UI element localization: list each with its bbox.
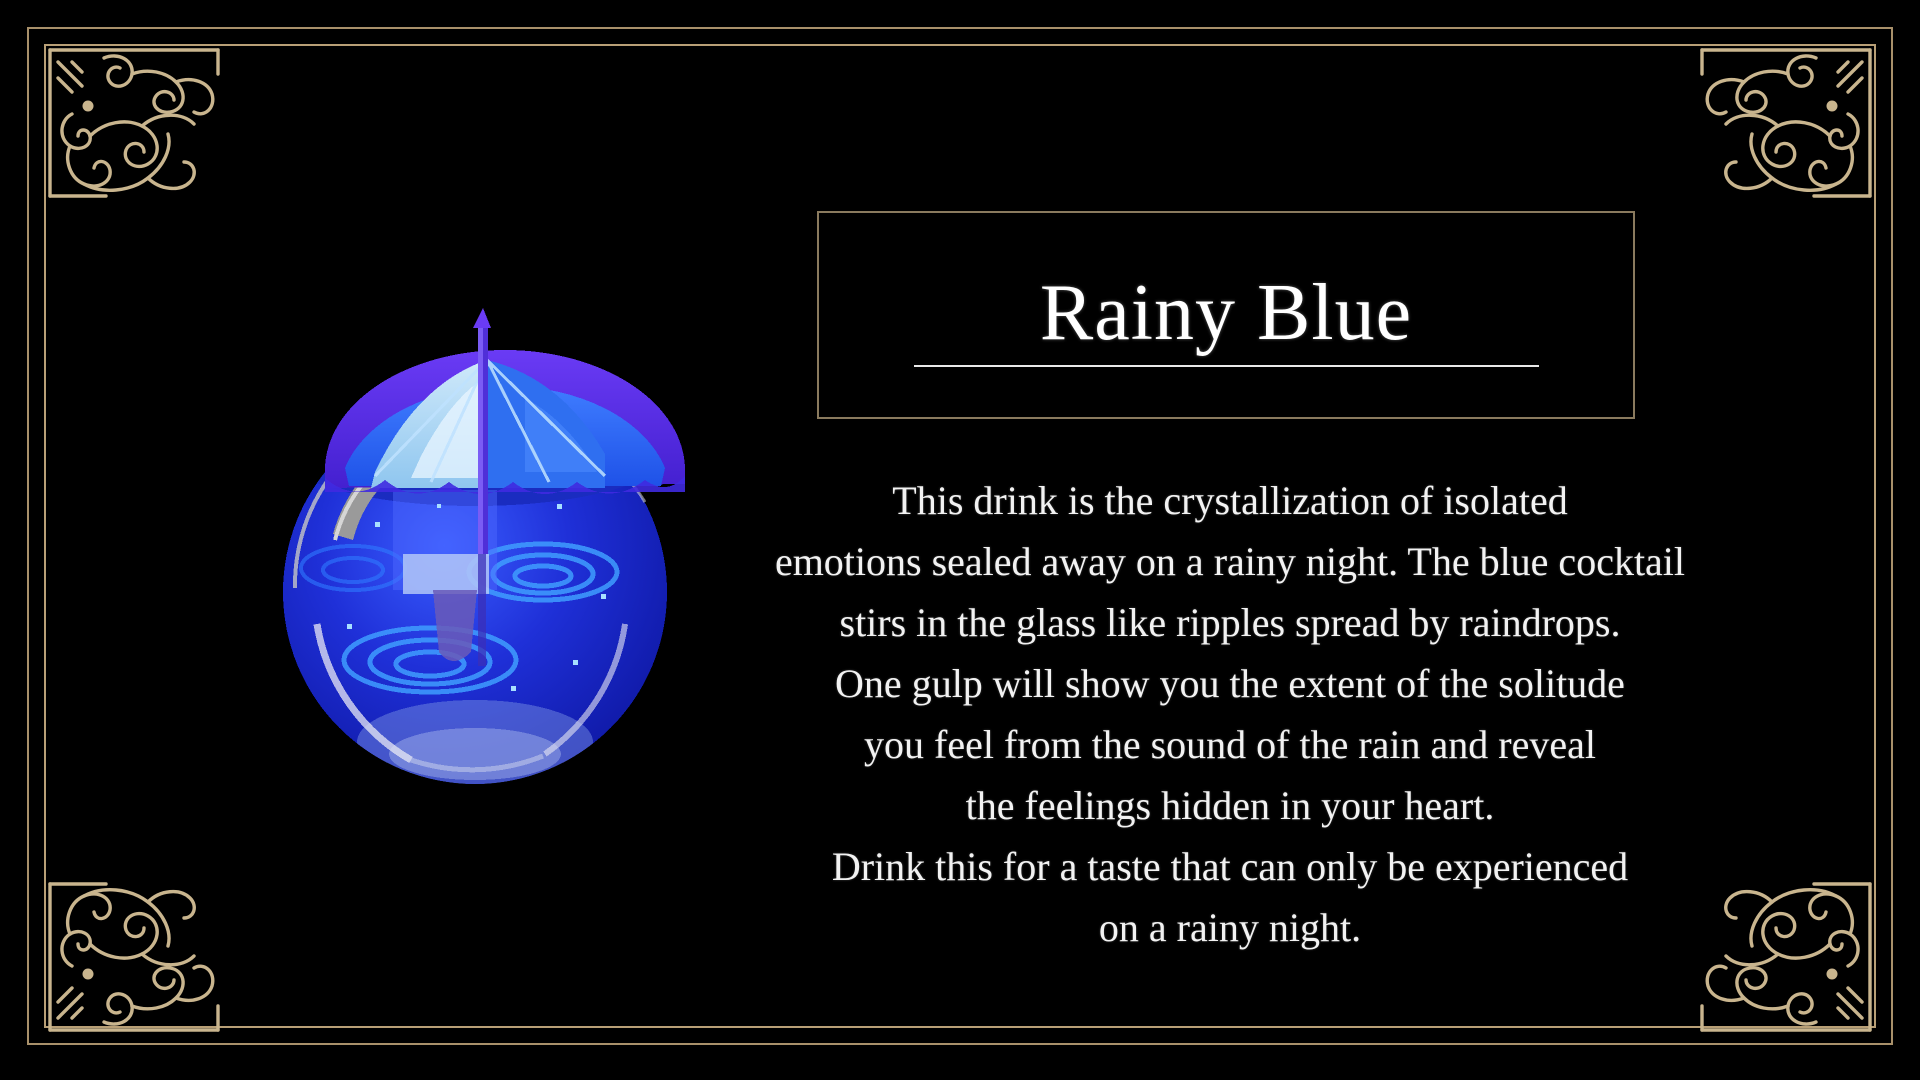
description-line: Drink this for a taste that can only be … [700, 836, 1760, 897]
item-detail-screen: Rainy Blue This drink is the crystalliza… [0, 0, 1920, 1080]
description-line: you feel from the sound of the rain and … [700, 714, 1760, 775]
corner-ornament-bottom-left-icon [48, 882, 220, 1032]
description-line: stirs in the glass like ripples spread b… [700, 592, 1760, 653]
description-line: This drink is the crystallization of iso… [700, 470, 1760, 531]
description-line: on a rainy night. [700, 897, 1760, 958]
corner-ornament-top-right-icon [1700, 48, 1872, 198]
item-title-box: Rainy Blue [817, 211, 1635, 419]
corner-ornament-top-left-icon [48, 48, 220, 198]
item-description: This drink is the crystallization of iso… [700, 470, 1760, 958]
title-underline [914, 365, 1539, 367]
description-line: One gulp will show you the extent of the… [700, 653, 1760, 714]
page-title: Rainy Blue [1040, 273, 1412, 353]
description-line: the feelings hidden in your heart. [700, 775, 1760, 836]
cocktail-glass-with-umbrella-icon [225, 272, 725, 832]
description-line: emotions sealed away on a rainy night. T… [700, 531, 1760, 592]
